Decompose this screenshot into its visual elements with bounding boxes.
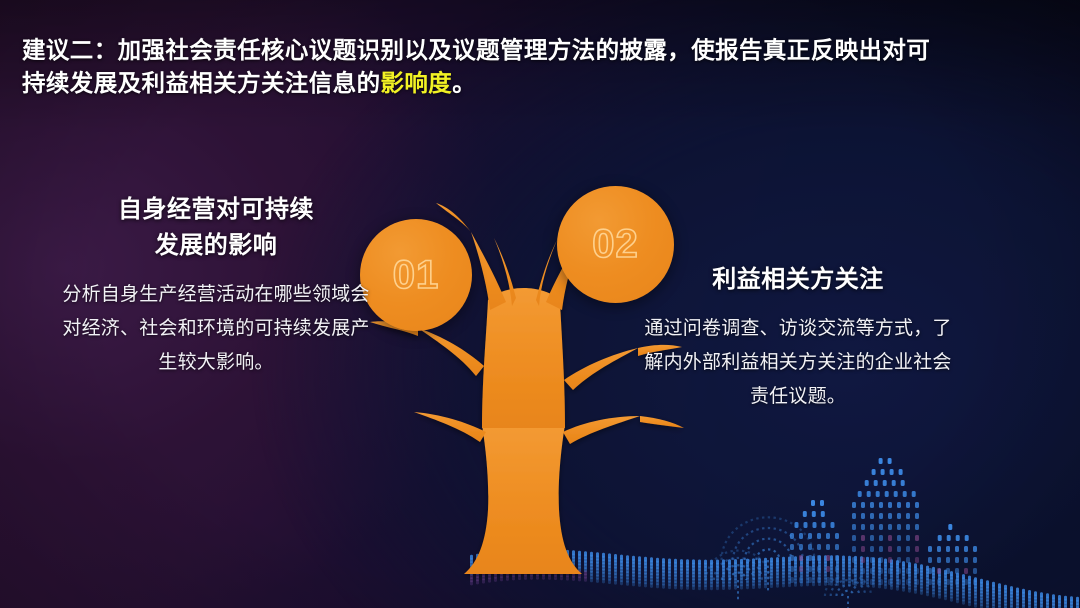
body-right: 通过问卷调查、访谈交流等方式，了解内外部利益相关方关注的企业社会责任议题。 <box>640 312 956 414</box>
text-block-right: 利益相关方关注 通过问卷调查、访谈交流等方式，了解内外部利益相关方关注的企业社会… <box>640 262 956 414</box>
node-number-01: 01 <box>393 253 440 298</box>
text-block-left: 自身经营对可持续 发展的影响 分析自身生产经营活动在哪些领域会对经济、社会和环境… <box>58 192 374 380</box>
title-line-2-text: 持续发展及利益相关方关注信息的 <box>22 70 381 96</box>
node-number-02: 02 <box>592 222 639 267</box>
slide-title: 建议二：加强社会责任核心议题识别以及议题管理方法的披露，使报告真正反映出对可 持… <box>22 34 1056 100</box>
heading-right-line1: 利益相关方关注 <box>712 266 884 293</box>
title-line-1-text: 建议二：加强社会责任核心议题识别以及议题管理方法的披露，使报告真正反映出对可 <box>22 37 930 63</box>
title-line-2-period: 。 <box>452 70 476 96</box>
node-circle-01[interactable]: 01 <box>360 219 472 331</box>
slide-canvas: 建议二：加强社会责任核心议题识别以及议题管理方法的披露，使报告真正反映出对可 持… <box>0 0 1080 608</box>
body-left: 分析自身生产经营活动在哪些领域会对经济、社会和环境的可持续发展产生较大影响。 <box>58 278 374 380</box>
title-line-1: 建议二：加强社会责任核心议题识别以及议题管理方法的披露，使报告真正反映出对可 <box>22 34 1056 67</box>
heading-left-line2: 发展的影响 <box>155 232 278 259</box>
title-line-2: 持续发展及利益相关方关注信息的影响度。 <box>22 67 1056 100</box>
heading-left-line1: 自身经营对可持续 <box>118 196 314 223</box>
title-highlight: 影响度 <box>381 70 453 96</box>
heading-right: 利益相关方关注 <box>640 262 956 298</box>
heading-left: 自身经营对可持续 发展的影响 <box>58 192 374 264</box>
